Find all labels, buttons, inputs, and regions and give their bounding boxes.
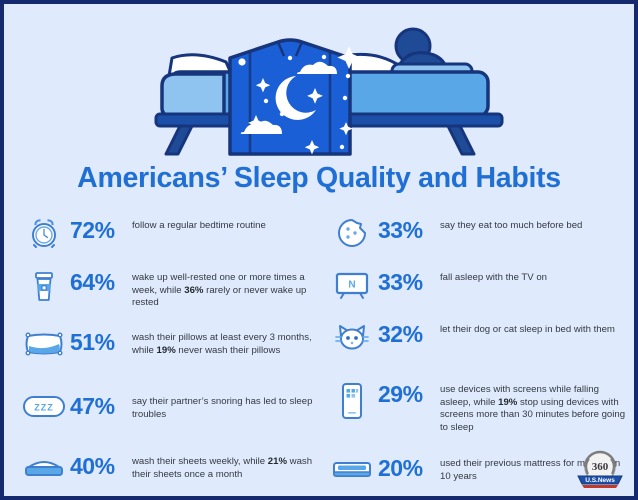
alarm-clock-icon: [18, 216, 70, 250]
logo-brand: U.S.News: [585, 477, 615, 484]
stat-percent: 40%: [70, 452, 132, 480]
stat-description: use devices with screens while falling a…: [440, 380, 631, 434]
mattress-icon: [326, 454, 378, 482]
stat-description: wake up well-rested one or more times a …: [132, 268, 323, 310]
stats-column-left: 72% follow a regular bedtime routine 64%…: [18, 216, 323, 500]
stat-description: fall asleep with the TV on: [440, 268, 631, 285]
hero-illustration: [4, 10, 634, 158]
stat-percent: 32%: [378, 320, 440, 348]
stat-percent: 64%: [70, 268, 132, 296]
page-title: Americans’ Sleep Quality and Habits: [4, 162, 634, 195]
stat-row: 29% use devices with screens while falli…: [326, 380, 631, 446]
stat-percent: 51%: [70, 328, 132, 356]
stat-description: wash their sheets weekly, while 21% wash…: [132, 452, 323, 481]
stat-row: 33% say they eat too much before bed: [326, 216, 631, 260]
pillow-icon: [18, 328, 70, 358]
bed-sheets-icon: [18, 452, 70, 480]
stat-description: let their dog or cat sleep in bed with t…: [440, 320, 631, 337]
stat-row: N 33% fall asleep with the TV on: [326, 268, 631, 312]
logo-number: 360: [592, 461, 609, 473]
svg-text:ZZZ: ZZZ: [34, 403, 54, 413]
stat-percent: 20%: [378, 454, 440, 482]
stat-percent: 47%: [70, 392, 132, 420]
bed-night-sky-illustration: [4, 10, 634, 158]
stat-description: say they eat too much before bed: [440, 216, 631, 233]
cookie-icon: [326, 216, 378, 248]
zzz-bubble-icon: ZZZ: [18, 392, 70, 420]
stat-row: ZZZ 47% say their partner’s snoring has …: [18, 392, 323, 444]
stat-description: say their partner’s snoring has led to s…: [132, 392, 323, 421]
stat-percent: 33%: [378, 216, 440, 244]
svg-text:N: N: [348, 280, 355, 291]
stat-row: 72% follow a regular bedtime routine: [18, 216, 323, 260]
stat-row: 40% wash their sheets weekly, while 21% …: [18, 452, 323, 496]
stat-percent: 72%: [70, 216, 132, 244]
stat-row: 51% wash their pillows at least every 3 …: [18, 328, 323, 384]
stat-row: 32% let their dog or cat sleep in bed wi…: [326, 320, 631, 372]
coffee-cup-icon: [18, 268, 70, 304]
stat-percent: 29%: [378, 380, 440, 408]
smartphone-icon: [326, 380, 378, 420]
infographic-canvas: Americans’ Sleep Quality and Habits 72% …: [0, 0, 638, 500]
stat-percent: 33%: [378, 268, 440, 296]
stat-row: 64% wake up well-rested one or more time…: [18, 268, 323, 320]
stat-description: follow a regular bedtime routine: [132, 216, 323, 233]
cat-face-icon: [326, 320, 378, 354]
television-icon: N: [326, 268, 378, 300]
stat-description: wash their pillows at least every 3 mont…: [132, 328, 323, 357]
us-news-360-reviews-badge: 360 U.S.News: [572, 448, 628, 492]
